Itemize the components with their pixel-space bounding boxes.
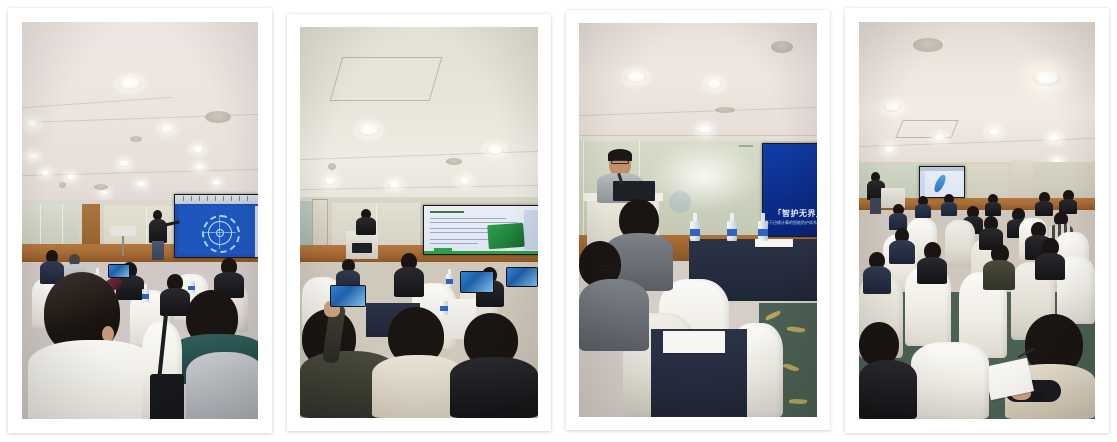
photo-3[interactable]: 「智护无界」 基于边缘计算的智能防护体系建设实践 [579, 23, 817, 417]
attendee-torso [863, 266, 891, 294]
cad-ruler-tick [247, 196, 248, 201]
ceiling-seam [579, 135, 817, 136]
foreground-attendee-right [450, 313, 538, 418]
water-bottle [727, 213, 737, 241]
attendee-torso [917, 257, 947, 284]
attendee-torso [579, 279, 649, 351]
glass-mullion [583, 141, 584, 241]
bottle-label [758, 229, 768, 236]
attendee [983, 244, 1015, 290]
presenter [148, 210, 170, 260]
wall-sign [739, 145, 753, 147]
laptop[interactable] [613, 181, 655, 201]
ceiling-downlight [1047, 134, 1061, 142]
glasses-icon [611, 160, 629, 164]
ceiling-downlight [118, 77, 142, 90]
slide-text-line [430, 228, 488, 229]
attendee-torso [889, 240, 915, 264]
wristwatch [1031, 392, 1043, 402]
ceiling-downlight [160, 125, 174, 133]
slide-text-line [430, 218, 506, 219]
presentation-screen[interactable] [174, 194, 258, 258]
attendee [889, 204, 907, 230]
photo-frame-1[interactable] [8, 8, 272, 433]
speaker-torso [356, 217, 376, 235]
foreground-attendee-white-shirt [28, 272, 158, 419]
attendee-torso [859, 360, 917, 419]
cad-ruler-tick [239, 196, 240, 201]
attendee [889, 228, 915, 264]
photo-frame-4[interactable] [845, 8, 1109, 433]
ceiling-downlight [987, 128, 1001, 136]
ceiling-downlight [458, 177, 471, 185]
ceiling-downlight [212, 180, 221, 185]
attendee [915, 196, 931, 218]
ceiling-downlight [192, 146, 204, 153]
ceiling-vent [94, 184, 108, 190]
ceiling-downlight [705, 79, 723, 89]
attendee-torso [915, 204, 931, 218]
slide-title: 「智护无界」 [763, 208, 817, 219]
attendee-torso [1035, 253, 1065, 280]
foreground-attendee-teal [172, 290, 258, 419]
attendee [863, 252, 891, 294]
presenter-legs [870, 198, 881, 214]
cad-ruler-tick [183, 196, 184, 201]
notepad [663, 331, 725, 353]
bottle-label [690, 229, 700, 236]
cad-ruler-tick [199, 196, 200, 201]
ceiling-spotlight [1033, 70, 1061, 86]
cad-gear-hub [216, 229, 224, 237]
slide-text-line [430, 239, 492, 240]
ceiling-downlight [883, 102, 901, 112]
photo-1[interactable] [22, 22, 258, 419]
ceiling-downlight [697, 125, 713, 134]
glasses-icon [593, 265, 615, 270]
attendee-torso [985, 202, 1001, 216]
attendee [394, 253, 424, 297]
cad-panel [255, 206, 258, 257]
attendee-torso [983, 260, 1015, 290]
phone-screen [461, 272, 493, 292]
flipchart-leg [122, 236, 124, 256]
laptop[interactable] [352, 243, 372, 253]
photo-gallery: 「智护无界」 基于边缘计算的智能防护体系建设实践 [0, 0, 1117, 442]
attendee-torso [28, 340, 158, 419]
ceiling-downlight [486, 145, 504, 155]
bottle-label [446, 279, 453, 284]
water-bottle [446, 269, 453, 287]
ceiling-downlight [136, 181, 146, 187]
ceiling-downlight [25, 120, 39, 128]
slide-diagram-bar [424, 251, 538, 254]
ceiling-access-hatch [895, 120, 958, 138]
ceiling-vent [446, 158, 462, 165]
ceiling-downlight [27, 153, 39, 160]
ceiling-downlight [324, 177, 337, 185]
carpet-leaf-motif [783, 362, 800, 373]
ceiling-downlight [388, 181, 401, 189]
photo-4[interactable] [859, 22, 1095, 419]
foreground-attendee-left [859, 322, 917, 419]
attendee-torso [394, 267, 424, 297]
shoulder-bag [150, 374, 184, 419]
ceiling-downlight [358, 124, 380, 136]
slide-subtitle: 基于边缘计算的智能防护体系建设实践 [763, 220, 817, 226]
slide-text-line [430, 243, 478, 244]
cad-toolbar [175, 195, 258, 204]
cad-ruler-tick [223, 196, 224, 201]
smartphone[interactable] [460, 271, 494, 293]
photo-2[interactable] [300, 27, 538, 418]
ceiling-vent [205, 111, 231, 123]
slide-sidebar [524, 210, 538, 250]
bottle-label [727, 229, 737, 236]
ceiling-downlight [100, 190, 109, 195]
ceiling-downlight [40, 170, 50, 176]
slide-toolbar [920, 167, 964, 171]
phone-screen [507, 268, 537, 286]
slide-sidebar [920, 171, 925, 197]
cad-guide-line [219, 215, 220, 249]
slide-text-line [430, 222, 518, 223]
ceiling-smoke-detector [328, 163, 336, 170]
ceiling-vent [130, 136, 142, 142]
attendee [1059, 190, 1077, 214]
attendee [985, 194, 1001, 216]
carpet-leaf-motif [787, 325, 806, 334]
slide-shape [932, 173, 948, 194]
cad-ruler-tick [231, 196, 232, 201]
water-bottle [690, 213, 700, 241]
phone-screen [331, 286, 365, 306]
ceiling-vent [715, 107, 735, 113]
slide-heading-bar [430, 211, 464, 213]
ceiling-access-hatch [330, 57, 443, 101]
ceiling-vent [913, 38, 943, 52]
presentation-screen[interactable] [423, 205, 538, 255]
ceiling-downlight [933, 134, 946, 141]
ceiling-downlight [883, 146, 895, 153]
carpet-leaf-motif [765, 310, 782, 320]
attendee [941, 194, 957, 216]
ceiling-smoke-detector [771, 41, 793, 53]
attendee-torso [941, 202, 957, 216]
speaker [356, 209, 376, 235]
attendee-torso [450, 357, 538, 418]
cad-ruler-tick [191, 196, 192, 201]
slide-diagram [487, 223, 525, 249]
cad-ruler-tick [207, 196, 208, 201]
photo-frame-2[interactable] [287, 14, 551, 431]
attendee [917, 242, 947, 284]
ceiling-downlight [194, 164, 205, 170]
ceiling-downlight [625, 71, 647, 83]
chair [911, 342, 989, 419]
water-bottle [758, 213, 768, 241]
foreground-attendee-lower [579, 241, 649, 351]
photo-frame-3[interactable]: 「智护无界」 基于边缘计算的智能防护体系建设实践 [566, 10, 830, 430]
ceiling-downlight [66, 174, 76, 180]
presentation-screen[interactable]: 「智护无界」 基于边缘计算的智能防护体系建设实践 [762, 143, 817, 237]
cad-ruler-tick [215, 196, 216, 201]
smartphone[interactable] [330, 285, 366, 307]
ceiling-smoke-detector [59, 182, 66, 188]
carpet-leaf-motif [789, 398, 807, 405]
flipchart-stand [110, 226, 136, 236]
smartphone[interactable] [506, 267, 538, 287]
attendee-jacket [186, 352, 258, 419]
ceiling-downlight [118, 160, 130, 167]
presenter-legs [152, 241, 164, 260]
attendee [1035, 238, 1065, 280]
